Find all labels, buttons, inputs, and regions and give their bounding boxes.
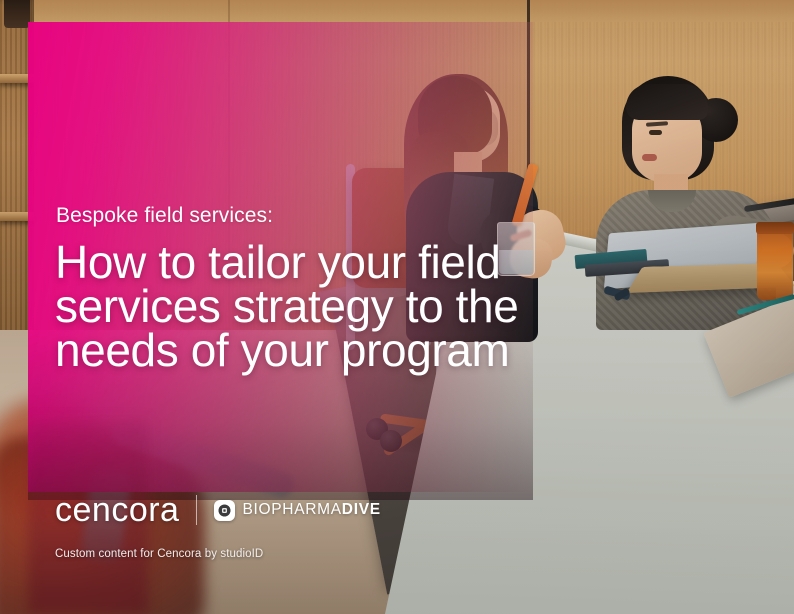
biopharma-dive-logo: BIOPHARMADIVE [214, 500, 380, 521]
dive-word: DIVE [342, 501, 381, 518]
content-credit: Custom content for Cencora by studioID [55, 548, 263, 560]
eyebrow-text: Bespoke field services: [56, 204, 273, 228]
logo-divider [196, 495, 197, 525]
cover-content: Bespoke field services: How to tailor yo… [0, 0, 794, 614]
page-title: How to tailor your field services strate… [55, 240, 595, 372]
biopharma-dive-wordmark: BIOPHARMADIVE [242, 502, 380, 518]
headline-line-2: services strategy to the [55, 284, 595, 328]
cover-page: Bespoke field services: How to tailor yo… [0, 0, 794, 614]
headline-line-3: needs of your program [55, 328, 595, 372]
biopharma-dive-mark-icon [214, 500, 235, 521]
biopharma-word: BIOPHARMA [242, 501, 341, 518]
cencora-logo: cencora [55, 493, 179, 527]
headline-line-1: How to tailor your field [55, 240, 595, 284]
logo-lockup: cencora BIOPHARMADIVE [55, 493, 381, 527]
